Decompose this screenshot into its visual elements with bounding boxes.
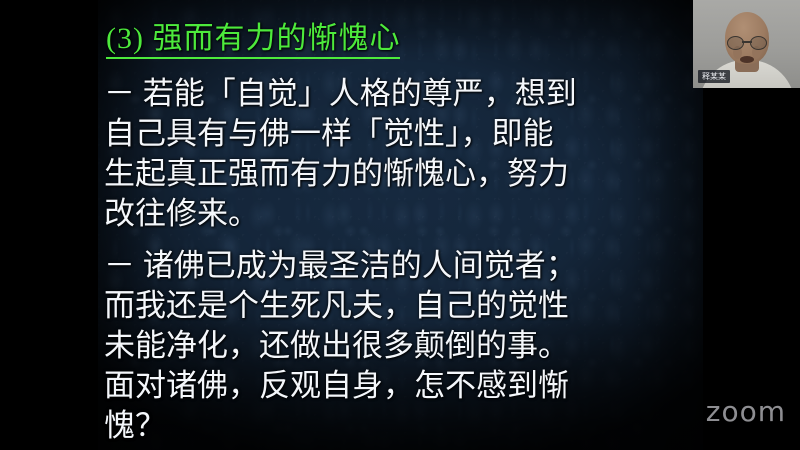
zoom-watermark: zoom [706, 395, 786, 428]
slide-title: (3) 强而有力的惭愧心 [106, 22, 400, 59]
slide-paragraph: － 诸佛已成为最圣洁的人间觉者； 而我还是个生死凡夫，自己的觉性 未能净化，还做… [104, 246, 700, 446]
slide-body: － 若能「自觉」人格的尊严，想到 自己具有与佛一样「觉性」，即能 生起真正强而有… [104, 74, 700, 450]
participant-name-badge: 释某某 [698, 70, 730, 83]
person-mouth [740, 56, 754, 63]
slide-line: 面对诸佛，反观自身，怎不感到惭 [104, 366, 700, 406]
glasses-lens-right [750, 36, 767, 50]
slide-line: 未能净化，还做出很多颠倒的事。 [104, 326, 700, 366]
participant-video-tile[interactable]: 释某某 [693, 0, 800, 88]
slide-content: (3) 强而有力的惭愧心 － 若能「自觉」人格的尊严，想到 自己具有与佛一样「觉… [98, 0, 703, 450]
shared-slide: (3) 强而有力的惭愧心 － 若能「自觉」人格的尊严，想到 自己具有与佛一样「觉… [98, 0, 703, 450]
slide-paragraph: － 若能「自觉」人格的尊严，想到 自己具有与佛一样「觉性」，即能 生起真正强而有… [104, 74, 700, 234]
slide-line: － 诸佛已成为最圣洁的人间觉者； [104, 246, 700, 286]
letterbox-bar-left [0, 0, 98, 450]
glasses-icon [727, 36, 767, 48]
slide-line: 愧？ [104, 406, 700, 446]
slide-line: 生起真正强而有力的惭愧心，努力 [104, 154, 700, 194]
slide-line: 改往修来。 [104, 194, 700, 234]
slide-line: 而我还是个生死凡夫，自己的觉性 [104, 286, 700, 326]
slide-line: － 若能「自觉」人格的尊严，想到 [104, 74, 700, 114]
glasses-lens-left [727, 36, 744, 50]
slide-line: 自己具有与佛一样「觉性」，即能 [104, 114, 700, 154]
zoom-screen-share-view: (3) 强而有力的惭愧心 － 若能「自觉」人格的尊严，想到 自己具有与佛一样「觉… [0, 0, 800, 450]
